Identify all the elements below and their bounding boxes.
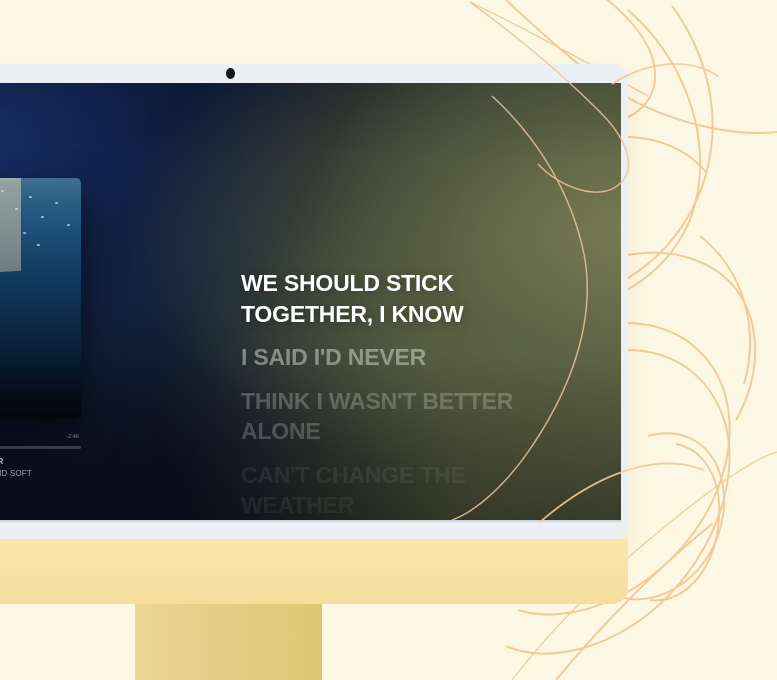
webcam-icon (226, 68, 235, 79)
screen-vignette (0, 83, 621, 520)
screen: Dolby Atmos -2:46 BIRDS OF A FEATHER Bil… (0, 83, 621, 520)
imac-top-bezel (0, 64, 628, 83)
imac-chin (0, 539, 628, 604)
imac-stand-neck (135, 604, 322, 680)
screen-bottom-edge (0, 520, 621, 523)
imac-display: Dolby Atmos -2:46 BIRDS OF A FEATHER Bil… (0, 64, 628, 539)
